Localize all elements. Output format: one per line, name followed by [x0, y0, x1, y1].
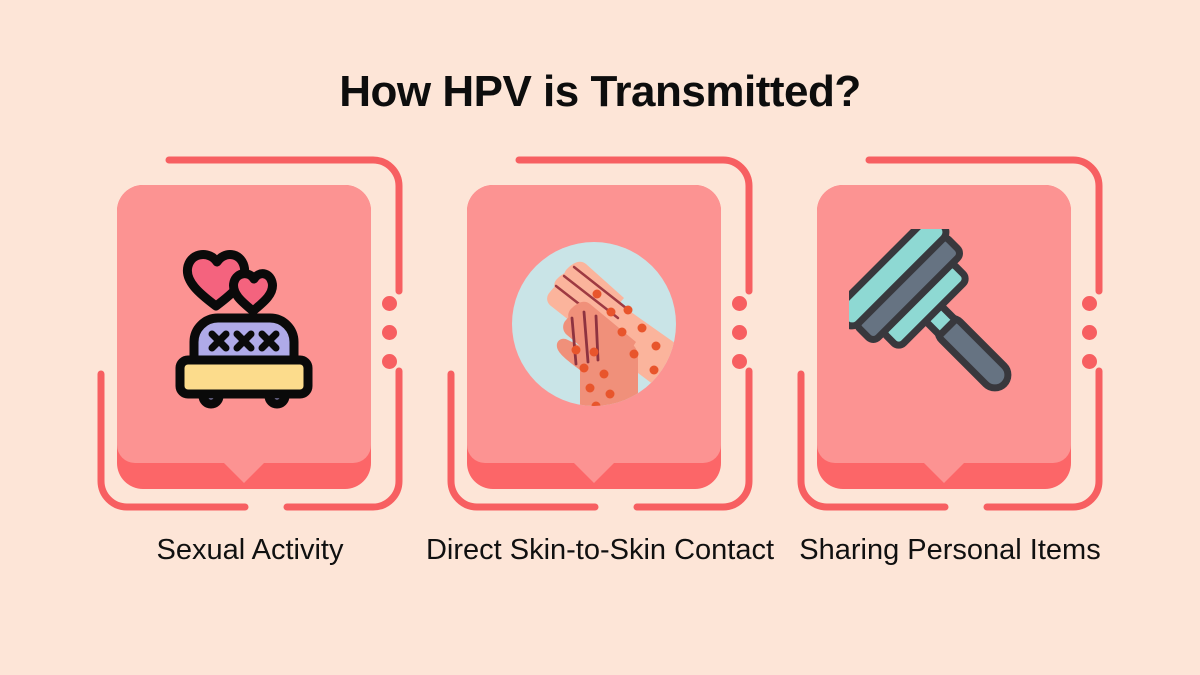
bracket-dot [732, 354, 747, 369]
bracket-dot [732, 325, 747, 340]
bracket-dot [382, 325, 397, 340]
card-label: Sexual Activity [75, 528, 425, 573]
bracket-dot [382, 296, 397, 311]
hands-with-rash-icon [467, 185, 721, 463]
bed-with-hearts-icon [117, 185, 371, 463]
bracket-dot [1082, 325, 1097, 340]
bracket-dot [1082, 296, 1097, 311]
bracket-dots-group [382, 296, 400, 376]
bracket-dot [732, 296, 747, 311]
infographic-canvas: How HPV is Transmitted? [0, 0, 1200, 675]
bracket-dots-group [1082, 296, 1100, 376]
page-title: How HPV is Transmitted? [0, 68, 1200, 116]
bracket-dot [382, 354, 397, 369]
card-panel[interactable] [117, 185, 371, 489]
card-label: Sharing Personal Items [775, 528, 1125, 573]
bracket-dot [1082, 354, 1097, 369]
transmission-card-skin-contact[interactable]: Direct Skin-to-Skin Contact [425, 150, 775, 650]
card-label: Direct Skin-to-Skin Contact [425, 528, 775, 573]
card-panel[interactable] [467, 185, 721, 489]
card-panel[interactable] [817, 185, 1071, 489]
transmission-card-personal-items[interactable]: Sharing Personal Items [775, 150, 1125, 650]
razor-icon [817, 185, 1071, 463]
transmission-card-sexual-activity[interactable]: Sexual Activity [75, 150, 425, 650]
bracket-dots-group [732, 296, 750, 376]
